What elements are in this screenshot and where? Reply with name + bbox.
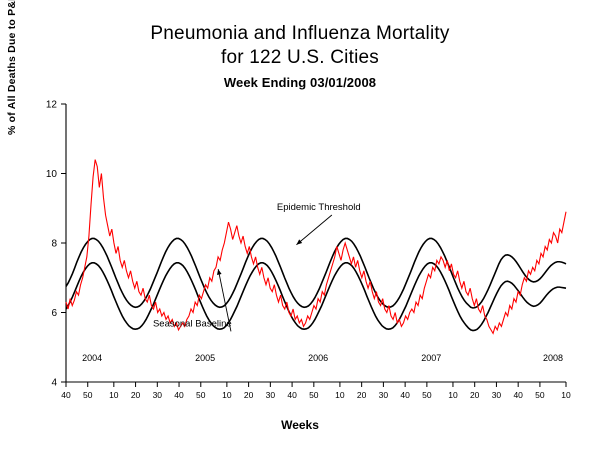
y-tick-label: 4 xyxy=(51,378,57,389)
series-epidemic-threshold xyxy=(66,238,566,308)
x-tick-label: 50 xyxy=(196,390,206,400)
annotation-leader-line xyxy=(296,215,331,245)
x-tick-label: 50 xyxy=(422,390,432,400)
x-tick-label: 10 xyxy=(109,390,119,400)
x-axis-label: Weeks xyxy=(0,418,600,432)
chart-title-line-2: for 122 U.S. Cities xyxy=(0,46,600,70)
axes-group xyxy=(66,104,566,382)
x-tick-label: 10 xyxy=(222,390,232,400)
x-tick-label: 20 xyxy=(131,390,141,400)
y-tick-label: 10 xyxy=(46,169,58,180)
x-tick-label: 30 xyxy=(153,390,163,400)
y-axis-label: % of All Deaths Due to P&I xyxy=(6,0,18,135)
y-tick-label: 8 xyxy=(51,239,57,250)
x-tick-label: 40 xyxy=(287,390,297,400)
x-ticks-group: 4050102030405010203040501020304050102030… xyxy=(61,382,571,400)
year-label: 2005 xyxy=(195,353,215,363)
x-tick-label: 40 xyxy=(400,390,410,400)
x-tick-label: 20 xyxy=(244,390,254,400)
y-tick-label: 12 xyxy=(46,100,58,111)
chart-subtitle: Week Ending 03/01/2008 xyxy=(0,75,600,91)
annotation-epidemic-threshold: Epidemic Threshold xyxy=(277,202,361,213)
x-tick-label: 10 xyxy=(335,390,345,400)
annotation-arrowhead xyxy=(217,269,222,275)
series-group xyxy=(66,160,566,334)
x-tick-label: 20 xyxy=(470,390,480,400)
x-tick-label: 30 xyxy=(266,390,276,400)
year-label: 2004 xyxy=(82,353,102,363)
x-tick-label: 50 xyxy=(83,390,93,400)
chart-title-line-1: Pneumonia and Influenza Mortality xyxy=(0,22,600,46)
x-tick-label: 10 xyxy=(448,390,458,400)
x-tick-label: 50 xyxy=(535,390,545,400)
annotation-seasonal-baseline: Seasonal Baseline xyxy=(153,318,232,329)
x-tick-label: 10 xyxy=(561,390,571,400)
y-tick-label: 6 xyxy=(51,308,57,319)
y-ticks-group: 4681012 xyxy=(46,100,66,389)
x-tick-label: 50 xyxy=(309,390,319,400)
chart-title-block: Pneumonia and Influenza Mortality for 12… xyxy=(0,22,600,91)
x-tick-label: 30 xyxy=(379,390,389,400)
x-tick-label: 40 xyxy=(61,390,71,400)
year-label: 2008 xyxy=(543,353,563,363)
x-tick-label: 20 xyxy=(357,390,367,400)
year-labels-group: 20042005200620072008 xyxy=(82,353,563,363)
x-tick-label: 40 xyxy=(513,390,523,400)
x-tick-label: 30 xyxy=(492,390,502,400)
chart-container: Pneumonia and Influenza Mortality for 12… xyxy=(0,0,600,450)
x-tick-label: 40 xyxy=(174,390,184,400)
year-label: 2007 xyxy=(421,353,441,363)
year-label: 2006 xyxy=(308,353,328,363)
